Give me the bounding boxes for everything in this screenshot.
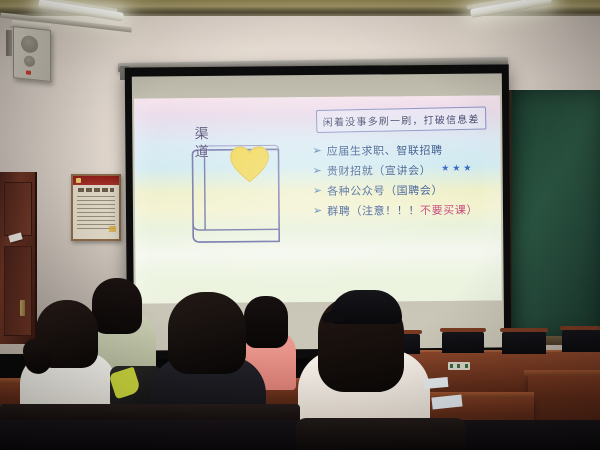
side-lectern-top: [524, 370, 600, 376]
book-label-text: 渠道: [190, 126, 211, 162]
poster-badge: [76, 178, 81, 183]
paper-sheet-2: [424, 377, 449, 389]
wall-notice-poster: [71, 174, 121, 241]
chair-back-3: [442, 332, 484, 353]
door-handle[interactable]: [20, 300, 25, 316]
speaker-cone-small: [24, 55, 35, 67]
arrow-marker-icon: ➢: [313, 185, 322, 196]
bullet-text-1: 应届生求职、智联招聘: [327, 141, 443, 158]
bullet-text-4-warning: 不要买课）: [420, 203, 478, 217]
star-rating-icons: ★ ★ ★: [441, 165, 471, 174]
projected-slide: 渠道 闲着没事多刷一刷，打破信息差 ➢ 应届生求职、智联招聘: [134, 95, 502, 303]
green-chalkboard: [508, 90, 600, 340]
classroom-photo: 渠道 闲着没事多刷一刷，打破信息差 ➢ 应届生求职、智联招聘: [0, 0, 600, 450]
star-icon: ★: [452, 165, 460, 174]
poster-content: [73, 176, 119, 239]
speaker-cone-large: [21, 35, 38, 54]
classroom-door[interactable]: [0, 172, 37, 344]
poster-stamp: [109, 226, 116, 232]
arrow-marker-icon: ➢: [313, 165, 322, 176]
bullet-text-4-main: 群聘（注意！！！: [327, 204, 420, 218]
chair-back-5: [562, 330, 600, 352]
poster-header-band: [73, 176, 119, 185]
bullet-text-3: 各种公众号（国聘会）: [327, 181, 443, 198]
bullet-item-2: ➢ 贵财招就（宣讲会） ★ ★ ★: [313, 161, 499, 178]
arrow-marker-icon: ➢: [313, 205, 322, 216]
star-icon: ★: [463, 165, 471, 174]
bullet-item-3: ➢ 各种公众号（国聘会）: [313, 181, 499, 198]
door-upper-panel: [4, 182, 32, 236]
heart-icon: [226, 141, 272, 183]
bullet-text-4: 群聘（注意！！！不要买课）: [327, 201, 478, 218]
speaker-bracket: [6, 30, 12, 56]
side-lectern: [528, 374, 600, 426]
chair-back-4: [502, 332, 546, 354]
slide-title-text: 闲着没事多刷一刷，打破信息差: [323, 111, 480, 129]
door-lower-panel: [4, 246, 32, 336]
slide-title-box: 闲着没事多刷一刷，打破信息差: [316, 106, 486, 133]
bullet-text-2: 贵财招就（宣讲会）: [327, 162, 432, 179]
arrow-marker-icon: ➢: [312, 145, 321, 156]
poster-title-line: [78, 188, 114, 192]
floor-power-socket: [448, 362, 470, 370]
student-4-hair: [244, 296, 288, 348]
wall-speaker-icon: [13, 26, 51, 82]
student-2-hair: [92, 278, 142, 334]
bullet-item-1: ➢ 应届生求职、智联招聘: [312, 141, 498, 158]
bullet-item-4: ➢ 群聘（注意！！！不要买课）: [313, 201, 499, 218]
slide-bullet-list: ➢ 应届生求职、智联招聘 ➢ 贵财招就（宣讲会） ★ ★ ★ ➢: [312, 141, 499, 223]
speaker-led: [26, 70, 31, 75]
student-3-hair: [168, 292, 246, 374]
foreground-chair-right: [296, 418, 466, 450]
star-icon: ★: [441, 165, 449, 174]
